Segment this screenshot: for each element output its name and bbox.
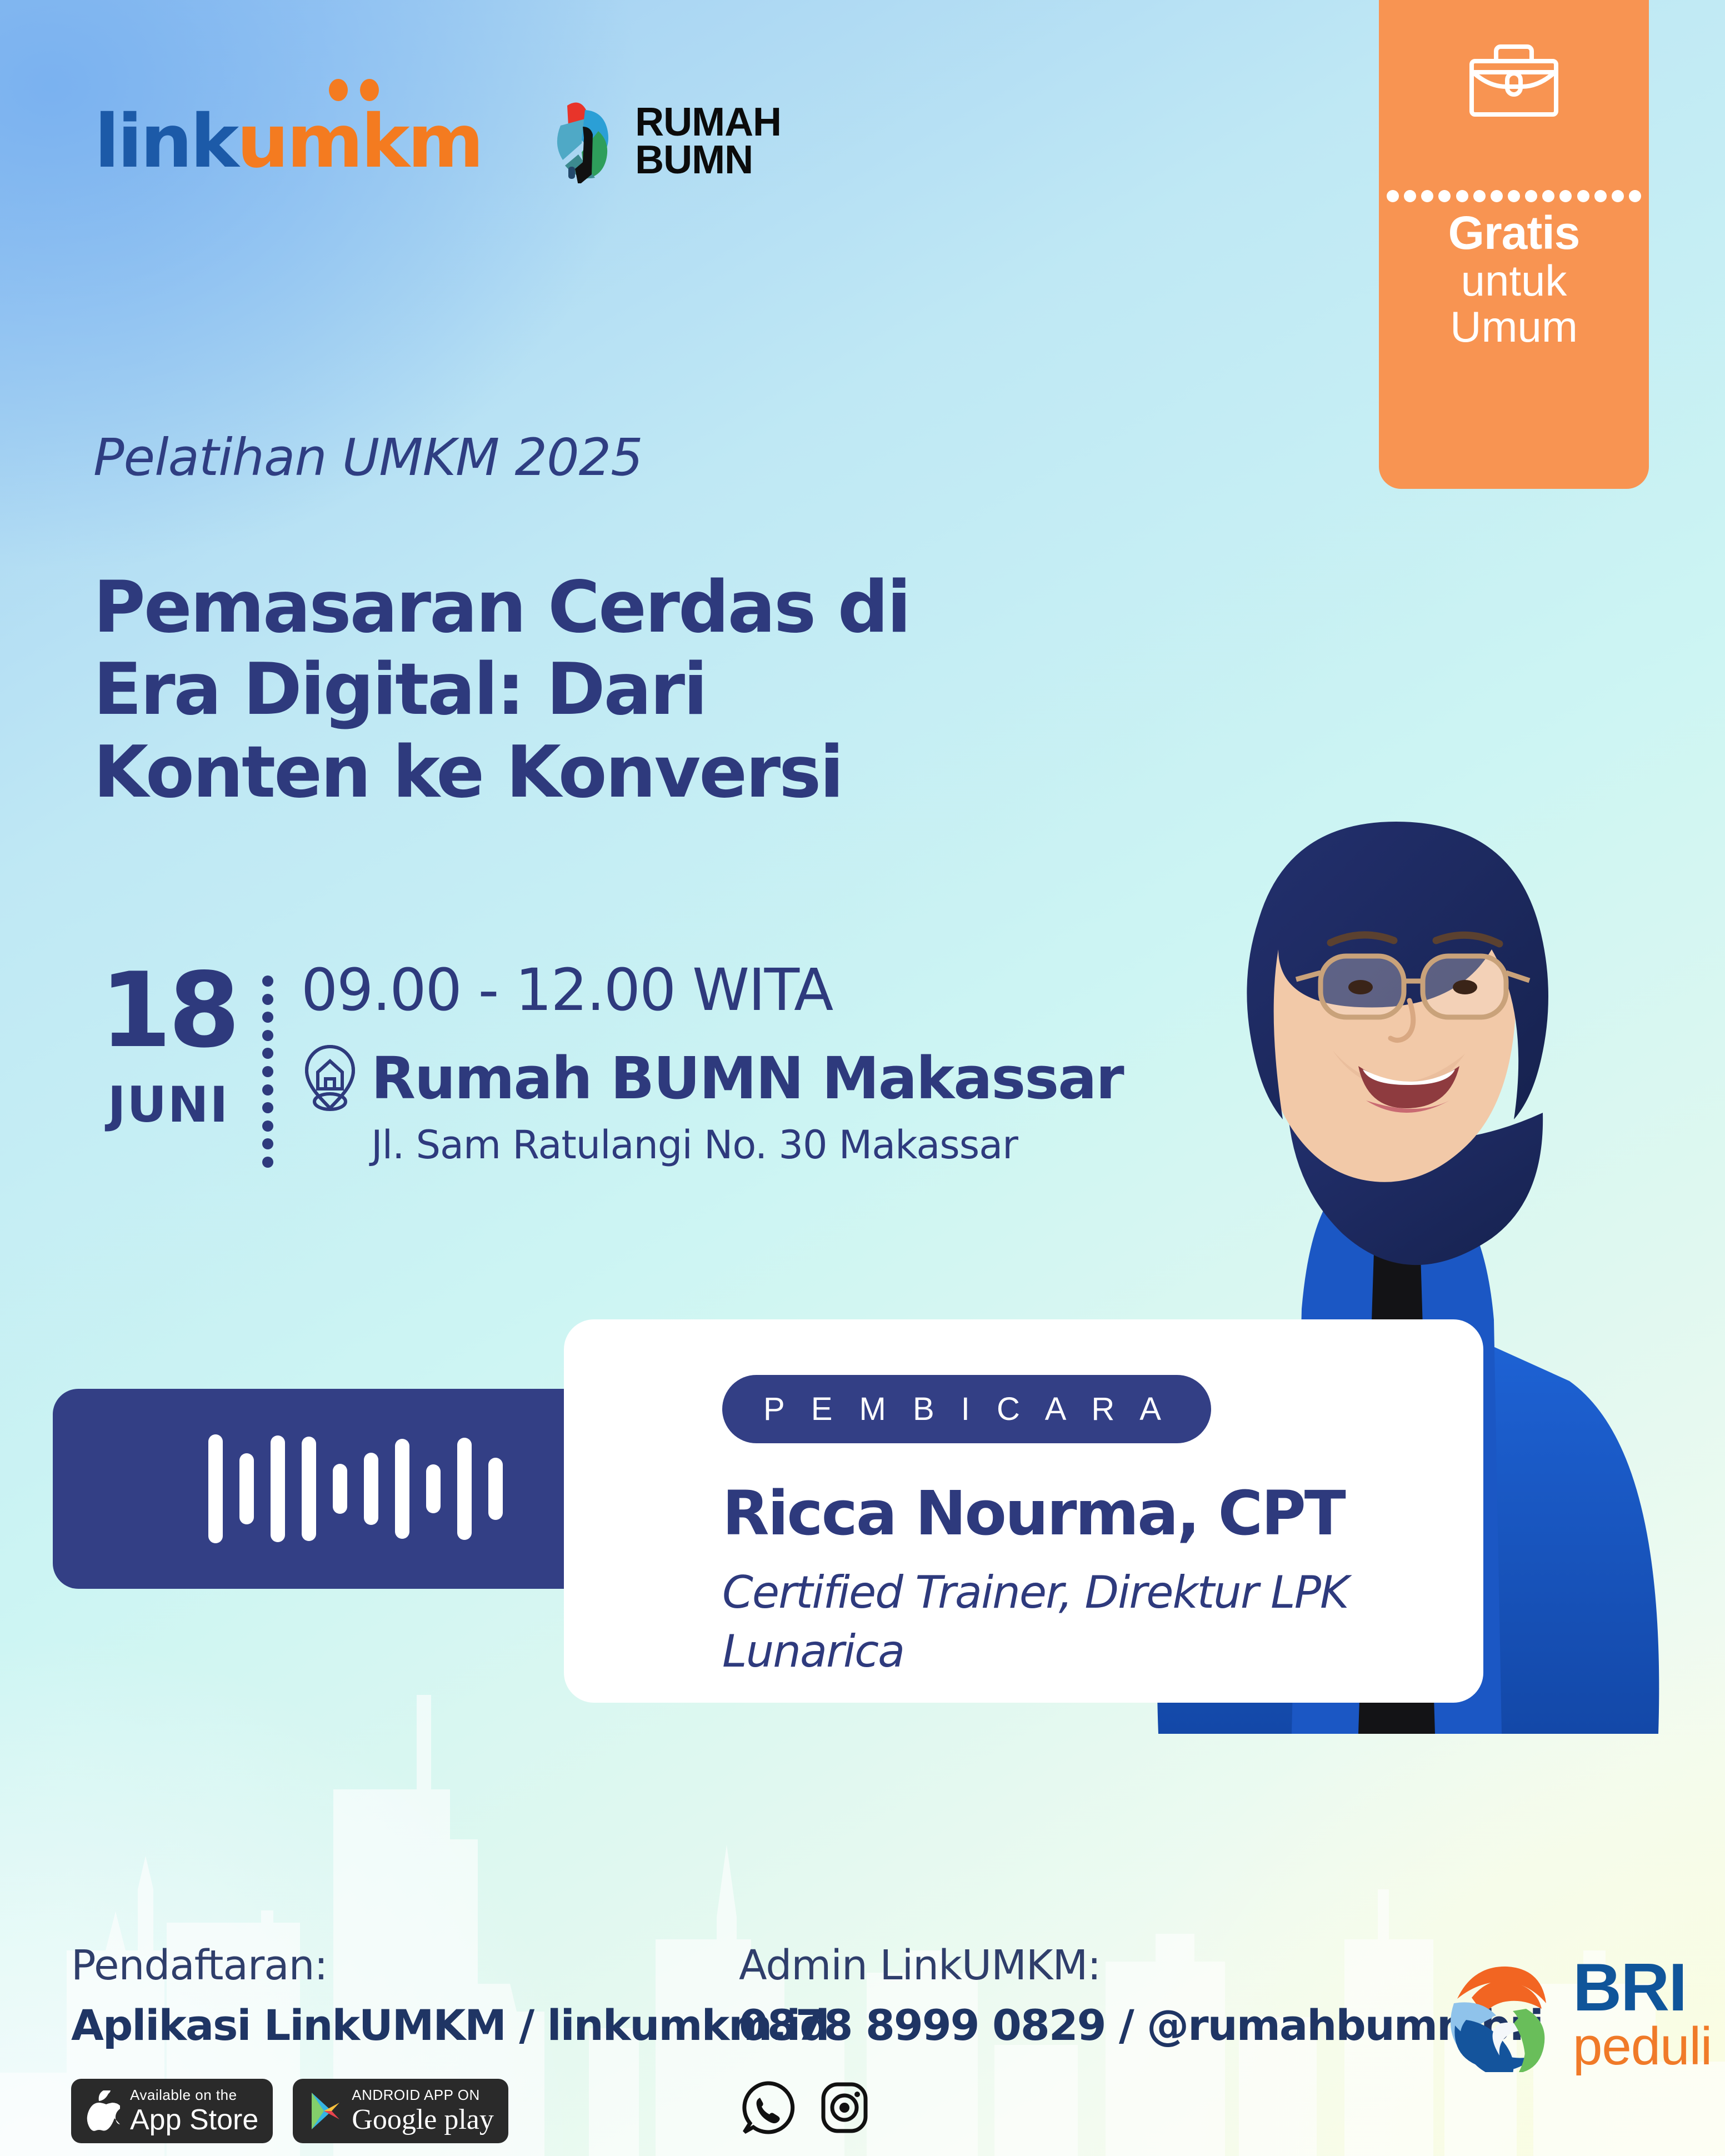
social-icons (739, 2079, 1543, 2137)
instagram-icon[interactable] (816, 2079, 873, 2137)
bri-peduli-logo: BRI peduli (1442, 1955, 1712, 2072)
gratis-dotted-divider (1379, 190, 1649, 203)
speaker-label-badge: P E M B I C A R A (722, 1375, 1211, 1443)
google-play-bottom-label: Google play (352, 2105, 494, 2134)
page-title: Pemasaran Cerdas di Era Digital: Dari Ko… (93, 567, 960, 814)
google-play-top-label: ANDROID APP ON (352, 2088, 494, 2102)
gratis-line2: untuk (1448, 258, 1580, 304)
bri-peduli-mark-icon (1442, 1955, 1558, 2072)
admin-heading: Admin LinkUMKM: (739, 1942, 1543, 1989)
audio-waveform-icon (208, 1433, 503, 1544)
google-play-icon (307, 2090, 342, 2132)
vertical-dotted-divider (262, 976, 277, 1168)
title-line-2: Era Digital: Dari (93, 649, 960, 731)
event-info-block: 09.00 - 12.00 WITA Rumah BUMN Makassar J… (301, 961, 1123, 1168)
admin-value: 0878 8999 0829 / @rumahbumn.bri (739, 2000, 1543, 2050)
bri-wordmark: BRI (1573, 1957, 1712, 2018)
gratis-text-block: Gratis untuk Umum (1448, 208, 1580, 349)
event-address: Jl. Sam Ratulangi No. 30 Makassar (371, 1122, 1123, 1168)
logo-row: linkumkm RUMAH BUMN (94, 100, 781, 183)
location-pin-home-icon (301, 1043, 359, 1113)
speaker-role-line2: Lunarica (722, 1622, 1483, 1681)
speaker-name: Ricca Nourma, CPT (722, 1478, 1483, 1549)
title-line-3: Konten ke Konversi (93, 732, 960, 814)
gratis-line3: Umum (1448, 304, 1580, 350)
event-month: JUNI (93, 1076, 243, 1133)
linkumkm-logo-umkm: umkm (237, 99, 482, 184)
apple-icon (86, 2090, 120, 2132)
event-date-block: 18 JUNI (93, 961, 243, 1168)
rumah-bumn-mark-icon (548, 100, 621, 183)
app-store-top-label: Available on the (130, 2088, 258, 2102)
registration-heading: Pendaftaran: (71, 1942, 829, 1989)
event-details: 18 JUNI 09.00 - 12.00 WITA Rumah BUMN Ma… (93, 961, 1123, 1168)
google-play-button[interactable]: ANDROID APP ON Google play (293, 2079, 508, 2143)
gratis-badge: Gratis untuk Umum (1379, 0, 1649, 489)
app-store-button[interactable]: Available on the App Store (71, 2079, 273, 2143)
admin-contact-block: Admin LinkUMKM: 0878 8999 0829 / @rumahb… (739, 1942, 1543, 2137)
speaker-role: Certified Trainer, Direktur LPK Lunarica (722, 1563, 1483, 1680)
eyebrow-text: Pelatihan UMKM 2025 (93, 428, 643, 487)
rumah-bumn-wordmark: RUMAH BUMN (635, 104, 781, 179)
gratis-line1: Gratis (1448, 208, 1580, 258)
rumah-bumn-line2: BUMN (635, 142, 781, 179)
peduli-wordmark: peduli (1573, 2023, 1712, 2070)
registration-block: Pendaftaran: Aplikasi LinkUMKM / linkumk… (71, 1942, 829, 2143)
linkumkm-logo: linkumkm (94, 105, 482, 178)
linkumkm-logo-link: link (94, 99, 237, 184)
registration-value: Aplikasi LinkUMKM / linkumkm.id (71, 2000, 829, 2050)
event-day: 18 (93, 961, 243, 1061)
rumah-bumn-logo: RUMAH BUMN (548, 100, 781, 183)
speaker-role-line1: Certified Trainer, Direktur LPK (722, 1563, 1483, 1622)
linkumkm-dots-icon (329, 79, 396, 101)
app-store-bottom-label: App Store (130, 2105, 258, 2134)
event-venue: Rumah BUMN Makassar (371, 1044, 1123, 1112)
title-line-1: Pemasaran Cerdas di (93, 567, 960, 649)
poster-canvas: linkumkm RUMAH BUMN (0, 0, 1725, 2156)
event-time: 09.00 - 12.00 WITA (301, 961, 1123, 1019)
store-badges: Available on the App Store ANDROID APP O… (71, 2079, 829, 2143)
whatsapp-icon[interactable] (739, 2079, 797, 2137)
rumah-bumn-line1: RUMAH (635, 104, 781, 142)
briefcase-icon (1464, 39, 1564, 122)
speaker-card: P E M B I C A R A Ricca Nourma, CPT Cert… (564, 1319, 1483, 1703)
